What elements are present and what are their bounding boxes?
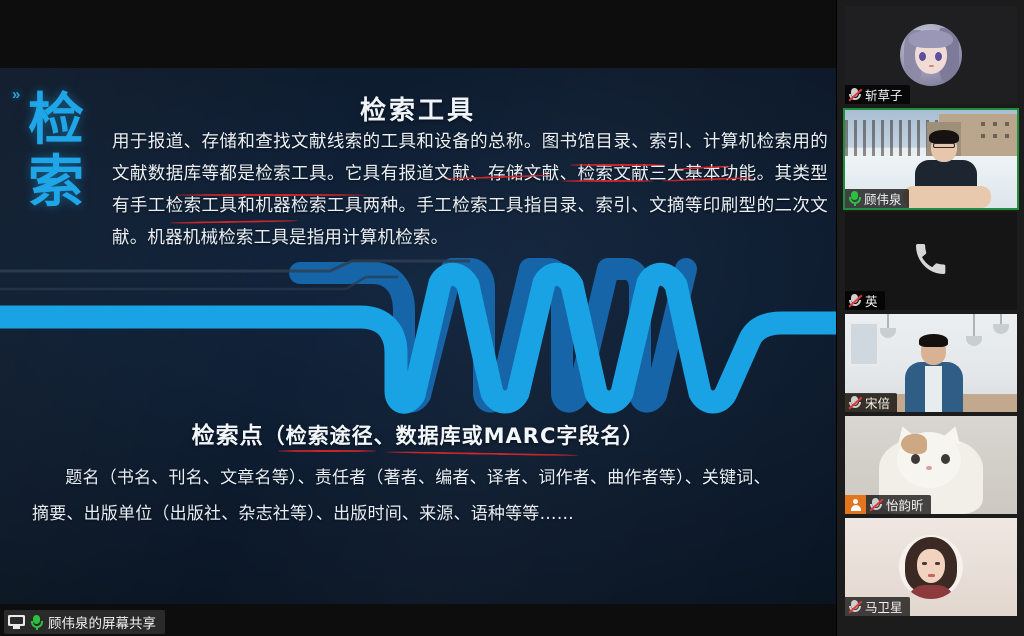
- monitor-icon: [8, 615, 25, 629]
- mic-muted-icon: [869, 497, 883, 512]
- avatar: [900, 24, 962, 86]
- ink-underline-1: [570, 164, 666, 166]
- slide-body-secondary-line1: 题名（书名、刊名、文章名等）、责任者（著者、编者、译者、词作者、曲作者等）、关键…: [65, 468, 770, 488]
- participant-tile-3[interactable]: 英: [845, 212, 1017, 310]
- screen-share-banner: 顾伟泉的屏幕共享: [4, 610, 165, 634]
- participant-name-3: 英: [865, 291, 878, 310]
- ink-underline-8: [278, 450, 376, 452]
- participant-name-badge-2: 顾伟泉: [845, 189, 909, 208]
- participant-rail[interactable]: 斩草子: [836, 0, 1024, 636]
- participant-name-badge-6: 马卫星: [845, 597, 910, 616]
- participant-name-6: 马卫星: [865, 597, 903, 616]
- ink-underline-3: [176, 194, 366, 196]
- conference-window: » 检索 检索工具 用于报道、存储和查找文献线索的工具和设备的总称。图书馆目录、…: [0, 0, 1024, 636]
- presentation-slide[interactable]: » 检索 检索工具 用于报道、存储和查找文献线索的工具和设备的总称。图书馆目录、…: [0, 68, 836, 604]
- mic-unmuted-icon: [30, 615, 43, 630]
- screen-share-label: 顾伟泉的屏幕共享: [48, 612, 156, 632]
- participant-tile-2[interactable]: 顾伟泉: [845, 110, 1017, 208]
- slide-body-paragraph: 用于报道、存储和查找文献线索的工具和设备的总称。图书馆目录、索引、计算机检索用的…: [112, 126, 828, 254]
- participant-name-4: 宋倍: [865, 393, 890, 412]
- slide-body-secondary: 题名（书名、刊名、文章名等）、责任者（著者、编者、译者、词作者、曲作者等）、关键…: [30, 460, 806, 532]
- mic-muted-icon: [848, 293, 862, 308]
- participant-tile-4[interactable]: 宋倍: [845, 314, 1017, 412]
- slide-sub-heading-paren: （检索途径、数据库或MARC字段名）: [264, 424, 645, 448]
- slide-sub-heading-main: 检索点: [192, 423, 264, 449]
- ink-underline-5: [562, 180, 654, 182]
- ink-underline-9: [386, 451, 578, 456]
- decorative-wave-graphic: [0, 243, 836, 415]
- participant-name-1: 斩草子: [865, 85, 903, 104]
- participant-name-badge-4: 宋倍: [845, 393, 897, 412]
- mic-muted-icon: [848, 87, 862, 102]
- participant-name-badge-1: 斩草子: [845, 85, 910, 104]
- mic-unmuted-icon: [848, 191, 861, 206]
- participant-tile-6[interactable]: 马卫星: [845, 518, 1017, 616]
- phone-icon: [911, 239, 951, 279]
- avatar: [845, 495, 866, 514]
- mic-muted-icon: [848, 395, 862, 410]
- slide-sub-heading: 检索点（检索途径、数据库或MARC字段名）: [0, 416, 836, 450]
- mic-muted-icon: [848, 599, 862, 614]
- participant-name-badge-5: 怡韵昕: [866, 495, 931, 514]
- participant-tile-1[interactable]: 斩草子: [845, 6, 1017, 104]
- slide-body-secondary-line2: 摘要、出版单位（出版社、杂志社等）、出版时间、来源、语种等等……: [30, 496, 806, 532]
- participant-name-badge-3: 英: [845, 291, 885, 310]
- participant-name-5: 怡韵昕: [886, 495, 924, 514]
- participant-tile-5[interactable]: 怡韵昕: [845, 416, 1017, 514]
- slide-title: 检索工具: [0, 90, 836, 127]
- participant-name-2: 顾伟泉: [864, 189, 902, 208]
- shared-screen-area[interactable]: » 检索 检索工具 用于报道、存储和查找文献线索的工具和设备的总称。图书馆目录、…: [0, 0, 836, 636]
